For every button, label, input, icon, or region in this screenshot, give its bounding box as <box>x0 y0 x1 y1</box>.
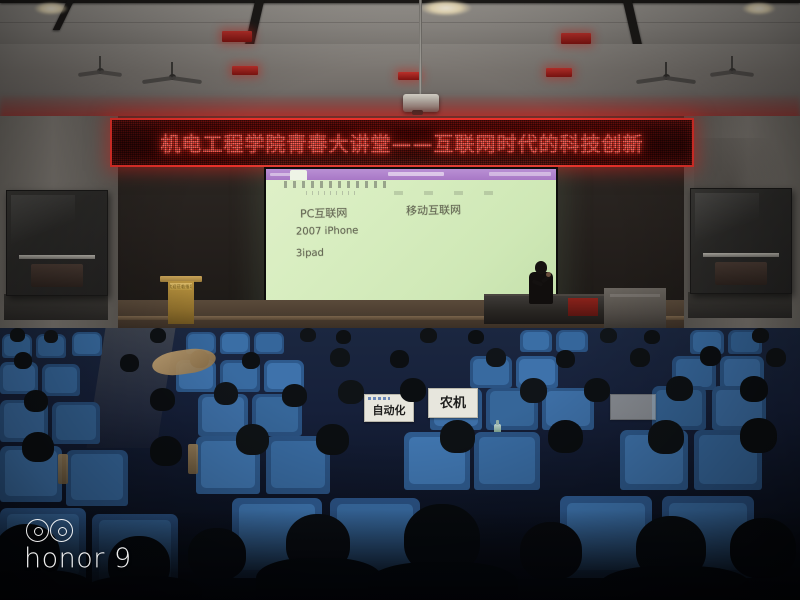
seat-sign <box>610 394 656 420</box>
ceiling-light <box>34 2 68 15</box>
ceiling-fan <box>142 62 202 86</box>
audience-shoulders <box>368 562 518 600</box>
watermark-brand-text: honor 9 <box>24 545 132 572</box>
speaker-trim <box>19 255 95 259</box>
handwriting-ipad: 3ipad <box>296 248 324 260</box>
seat <box>474 432 540 490</box>
lecture-hall-photo: 机电工程学院青春大讲堂——互联网时代的科技创新 PC互联网 移动互联网 2007… <box>0 0 800 600</box>
fan-blade <box>732 70 754 77</box>
ceiling-panel-line <box>0 22 800 23</box>
app-toolbar <box>284 181 388 188</box>
audience-head <box>520 378 547 403</box>
camera-lens-icon <box>50 519 73 542</box>
speaker-trim <box>703 253 779 257</box>
seat-sign-label: 自动化 <box>373 405 406 416</box>
faint-text-row <box>394 191 504 195</box>
audience-head <box>752 328 769 343</box>
audience-head <box>766 348 786 367</box>
audience-shoulders <box>82 576 202 600</box>
led-banner: 机电工程学院青春大讲堂——互联网时代的科技创新 <box>110 118 694 167</box>
speaker-woofer <box>715 262 767 285</box>
desk-red-cloth <box>568 298 598 316</box>
app-titlebar <box>266 169 556 180</box>
fan-blade <box>666 76 696 84</box>
fan-blade <box>710 70 732 77</box>
audience-head <box>440 420 475 453</box>
audience-head <box>666 376 693 401</box>
audience-head <box>400 378 426 402</box>
seat <box>42 364 80 396</box>
seat-sign-agricultural-machinery: 农机 <box>428 388 478 418</box>
ceiling <box>0 0 800 118</box>
wall-speaker-left <box>6 190 108 296</box>
audience-head <box>644 330 660 344</box>
podium-plate: 欢迎莅临指导 <box>170 283 192 290</box>
audience-shoulders <box>256 558 382 600</box>
titlebar-tab <box>290 170 307 180</box>
sign-logo <box>368 397 390 400</box>
projector-pole <box>419 0 422 96</box>
camera-lens-icon <box>26 519 49 542</box>
fan-blade <box>142 76 172 84</box>
fan-blade <box>100 70 122 77</box>
camera-watermark: honor 9 <box>24 519 132 572</box>
ceiling-fan <box>636 62 696 86</box>
exit-light <box>546 68 572 77</box>
speaker-stand <box>688 292 792 318</box>
fan-blade <box>172 76 202 84</box>
presenter-head <box>535 261 547 274</box>
seat <box>520 330 552 352</box>
audience-head <box>730 518 796 578</box>
audience-head <box>300 328 316 342</box>
seat <box>254 332 284 354</box>
ceiling-light <box>742 2 776 15</box>
podium-plate-text: 欢迎莅临指导 <box>170 284 192 290</box>
ceiling-beam <box>0 0 800 3</box>
audience-head <box>420 328 437 343</box>
armrest <box>188 444 198 474</box>
seat <box>52 402 100 444</box>
presenter-hand <box>546 272 551 277</box>
audience-head <box>700 346 721 366</box>
audience-head <box>584 378 610 402</box>
red-light-wash <box>0 96 800 118</box>
dual-camera-icon <box>26 519 132 542</box>
audience-head <box>336 330 351 344</box>
speaker-woofer <box>31 264 83 287</box>
seat <box>72 332 102 356</box>
speaker-gloss <box>695 193 759 247</box>
ceiling-light <box>420 0 472 16</box>
audience-head <box>740 418 777 453</box>
audience-head <box>44 330 58 343</box>
audience-head <box>24 390 48 412</box>
seat <box>66 450 128 506</box>
audience-shoulders <box>0 570 94 600</box>
audience-head <box>390 350 409 368</box>
audience-head <box>600 328 617 343</box>
presenter <box>527 261 555 303</box>
podium: 欢迎莅临指导 <box>166 276 196 324</box>
exit-light <box>222 31 252 42</box>
fan-blade <box>636 76 666 84</box>
audience-head <box>10 328 25 342</box>
audience-head <box>316 424 349 455</box>
handwriting-mobile-internet: 移动互联网 <box>406 201 461 218</box>
handwriting-pc-internet: PC互联网 <box>300 205 348 222</box>
speaker-stand <box>4 294 108 320</box>
audience-head <box>630 348 650 367</box>
titlebar-title <box>388 172 444 176</box>
ceiling-back-panel <box>0 0 800 46</box>
audience-head <box>548 420 583 453</box>
audience-head <box>188 528 246 580</box>
led-banner-text: 机电工程学院青春大讲堂——互联网时代的科技创新 <box>161 128 644 157</box>
fan-blade <box>78 70 100 77</box>
armrest <box>58 454 68 484</box>
app-ruler <box>306 191 358 195</box>
seat <box>220 332 250 354</box>
equipment-cabinet <box>604 288 666 328</box>
audience-head <box>520 522 582 580</box>
audience-head <box>486 348 506 367</box>
audience-head <box>282 384 307 407</box>
speaker-gloss <box>11 195 75 249</box>
audience-head <box>150 388 175 411</box>
handwriting-iphone-year: 2007 iPhone <box>296 225 359 237</box>
audience-head <box>14 352 32 369</box>
audience-head <box>214 382 238 405</box>
wall-speaker-right <box>690 188 792 294</box>
seat-sign-label: 农机 <box>440 397 466 410</box>
exit-light <box>561 33 591 44</box>
ceiling-fan <box>710 56 754 76</box>
audience-head <box>740 376 768 402</box>
audience-shoulders <box>600 566 750 600</box>
projector-lens-icon <box>412 110 423 115</box>
exit-light <box>232 66 258 75</box>
exit-light <box>398 72 420 80</box>
audience-head <box>338 380 364 404</box>
audience-head <box>22 432 54 462</box>
audience-head <box>468 330 484 344</box>
seat <box>556 330 588 352</box>
audience-head <box>648 420 684 454</box>
titlebar-tools <box>489 172 551 176</box>
audience-head <box>150 328 166 343</box>
audience-head <box>120 354 139 372</box>
audience-head <box>150 436 182 466</box>
audience-head <box>242 352 260 369</box>
ceiling-fan <box>78 56 122 76</box>
audience-head <box>330 348 350 367</box>
audience-head <box>556 350 575 368</box>
audience-head <box>236 424 269 455</box>
